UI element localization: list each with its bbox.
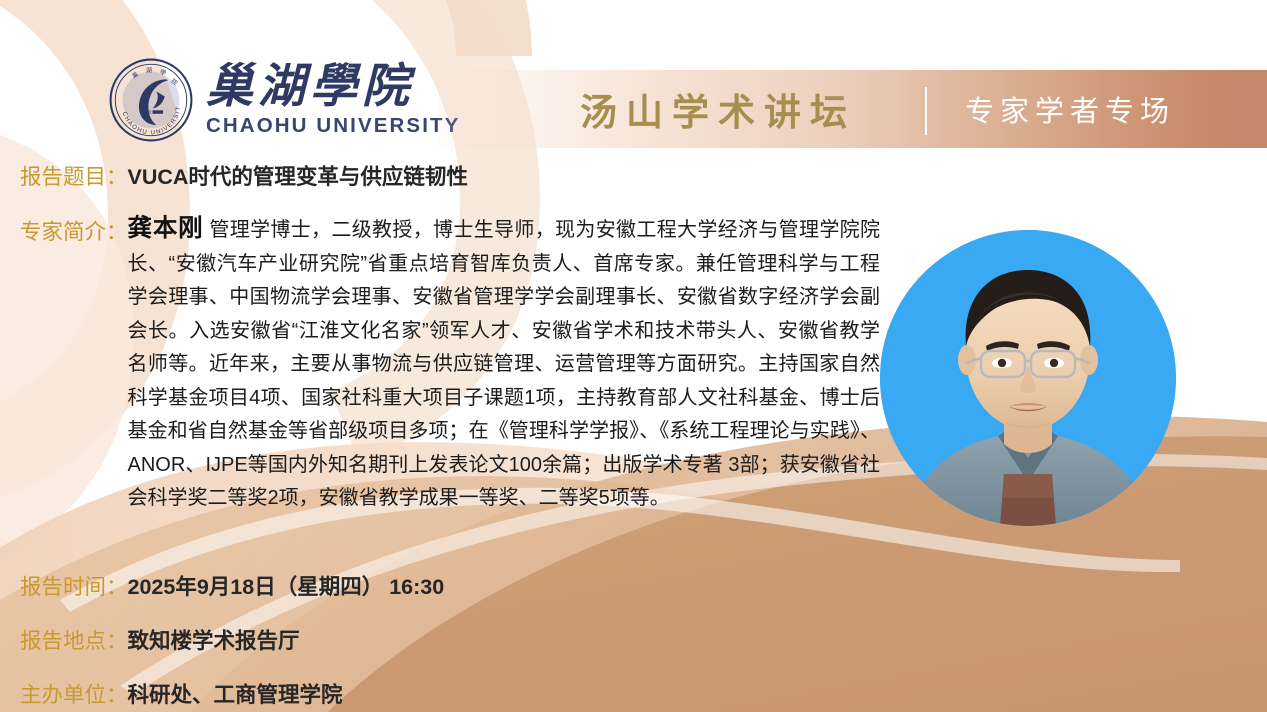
topic-value: VUCA时代的管理变革与供应链韧性	[128, 160, 468, 191]
bio-text: 龚本刚 管理学博士，二级教授，博士生导师，现为安徽工程大学经济与管理学院院长、“…	[128, 212, 880, 516]
time-label: 报告时间：	[20, 570, 128, 601]
topic-label: 报告题目：	[20, 160, 128, 191]
time-row: 报告时间： 2025年9月18日（星期四） 16:30	[20, 570, 444, 601]
host-value: 科研处、工商管理学院	[128, 678, 343, 709]
bio-label: 专家简介：	[20, 212, 128, 246]
speaker-name: 龚本刚	[128, 215, 204, 242]
place-row: 报告地点： 致知楼学术报告厅	[20, 624, 300, 655]
poster-root: 1977 CHAOHU UNIVERSITY 巢 湖 學 院 巢湖學院 CHAO…	[0, 0, 1267, 712]
host-row: 主办单位： 科研处、工商管理学院	[20, 678, 343, 709]
place-value: 致知楼学术报告厅	[128, 624, 300, 655]
topic-row: 报告题目： VUCA时代的管理变革与供应链韧性	[20, 160, 468, 191]
portrait-illustration	[880, 230, 1176, 526]
speaker-portrait	[880, 230, 1176, 526]
place-label: 报告地点：	[20, 624, 128, 655]
bio-row: 专家简介： 龚本刚 管理学博士，二级教授，博士生导师，现为安徽工程大学经济与管理…	[20, 212, 880, 516]
bio-paragraph: 管理学博士，二级教授，博士生导师，现为安徽工程大学经济与管理学院院长、“安徽汽车…	[128, 219, 881, 509]
time-value: 2025年9月18日（星期四） 16:30	[128, 570, 445, 601]
host-label: 主办单位：	[20, 678, 128, 709]
